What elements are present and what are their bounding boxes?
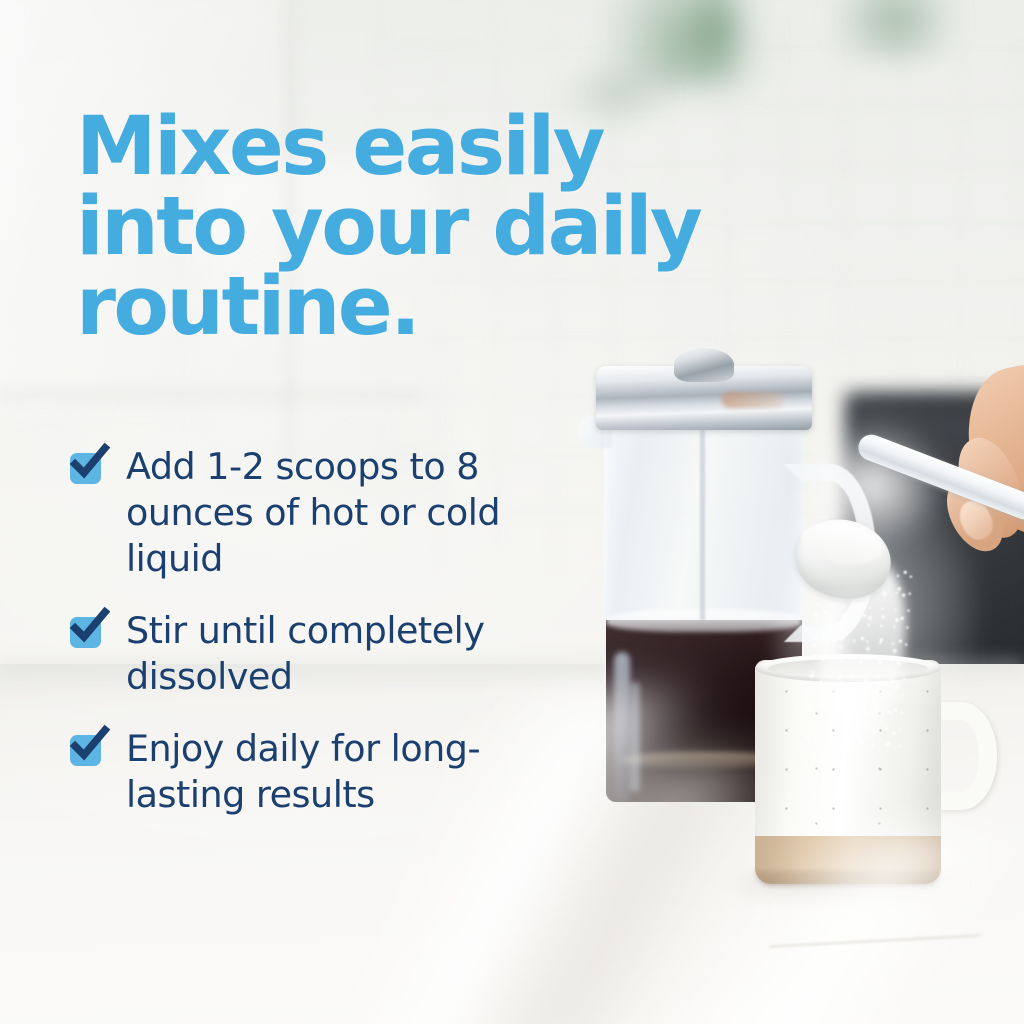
list-item-label: Stir until completely dissolved: [126, 608, 590, 700]
checkmark-icon: [70, 453, 101, 484]
text-overlay: Mixes easily into your daily routine. Ad…: [0, 0, 1024, 1024]
checkmark-icon: [70, 617, 101, 648]
headline-line-1: Mixes easily: [76, 108, 836, 188]
headline-line-3: routine.: [76, 268, 836, 348]
checkmark-icon: [70, 735, 101, 766]
promotional-graphic: Mixes easily into your daily routine. Ad…: [0, 0, 1024, 1024]
list-item: Add 1-2 scoops to 8 ounces of hot or col…: [70, 444, 590, 582]
page-title: Mixes easily into your daily routine.: [76, 108, 836, 347]
list-item-label: Enjoy daily for long-lasting results: [126, 726, 590, 818]
headline-line-2: into your daily: [76, 188, 836, 268]
list-item: Stir until completely dissolved: [70, 608, 590, 700]
instruction-list: Add 1-2 scoops to 8 ounces of hot or col…: [70, 444, 590, 818]
list-item: Enjoy daily for long-lasting results: [70, 726, 590, 818]
list-item-label: Add 1-2 scoops to 8 ounces of hot or col…: [126, 444, 590, 582]
